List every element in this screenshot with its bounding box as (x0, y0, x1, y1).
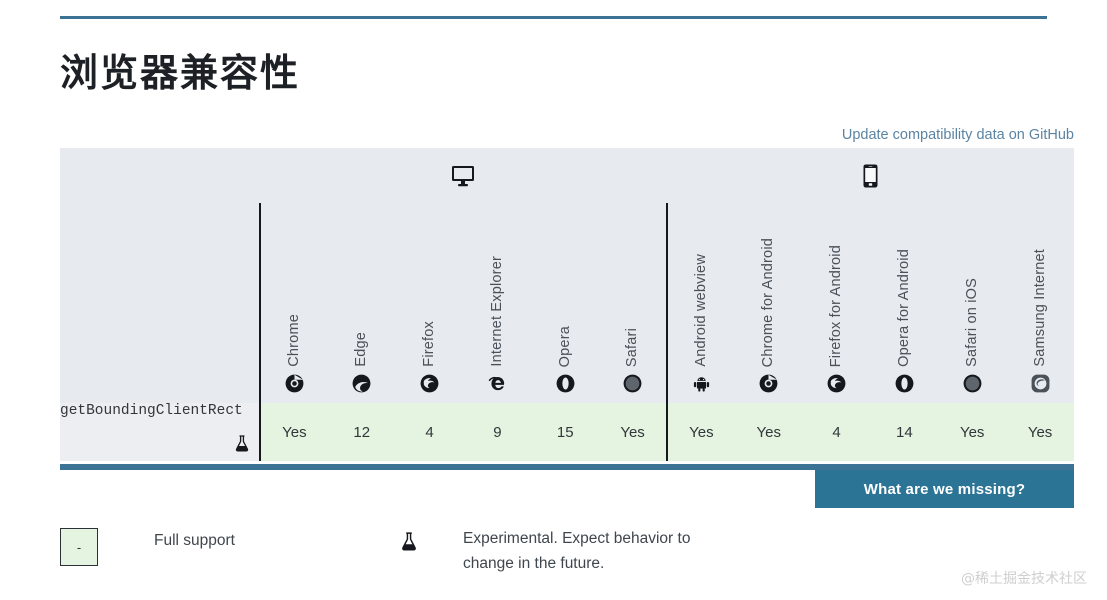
experimental-flask-icon (235, 435, 249, 457)
support-cell[interactable]: Yes (599, 403, 667, 461)
browser-label: Internet Explorer (490, 256, 505, 367)
safari-icon (623, 373, 643, 393)
browser-label: Safari on iOS (965, 278, 980, 367)
browser-header-internet-explorer[interactable]: Internet Explorer (463, 203, 531, 403)
browser-label: Opera (558, 326, 573, 367)
browser-label: Safari (625, 328, 640, 367)
support-cell[interactable]: Yes (938, 403, 1006, 461)
browser-label: Samsung Internet (1033, 249, 1048, 367)
internet-explorer-icon (487, 373, 507, 393)
browser-header-firefox[interactable]: Firefox (396, 203, 464, 403)
legend-item-full-support: - Full support (60, 528, 235, 566)
platform-header-mobile (667, 148, 1074, 203)
desktop-icon (451, 167, 475, 184)
table-row: getBoundingClientRect Yes 12 4 9 15 Ye (60, 403, 1074, 461)
browser-header-opera[interactable]: Opera (531, 203, 599, 403)
support-cell[interactable]: Yes (667, 403, 735, 461)
support-cell[interactable]: Yes (735, 403, 803, 461)
page-title: 浏览器兼容性 (60, 52, 300, 98)
full-support-swatch: - (60, 528, 98, 566)
feature-name-cell[interactable]: getBoundingClientRect (60, 403, 260, 461)
browser-header-row: Chrome Edge (60, 203, 1074, 403)
browser-header-safari[interactable]: Safari (599, 203, 667, 403)
browser-header-edge[interactable]: Edge (328, 203, 396, 403)
browser-header-android-webview[interactable]: Android webview (667, 203, 735, 403)
firefox-icon (827, 373, 847, 393)
legend-label-full-support: Full support (154, 528, 235, 553)
support-cell[interactable]: 15 (531, 403, 599, 461)
browser-label: Firefox (422, 321, 437, 367)
platform-header-desktop (260, 148, 667, 203)
browser-label: Firefox for Android (829, 245, 844, 367)
platform-header-spacer (60, 148, 260, 203)
support-cell[interactable]: Yes (1006, 403, 1074, 461)
firefox-icon (420, 373, 440, 393)
opera-icon (555, 373, 575, 393)
update-compatibility-data-link[interactable]: Update compatibility data on GitHub (842, 127, 1074, 143)
support-cell[interactable]: 14 (870, 403, 938, 461)
support-cell[interactable]: 12 (328, 403, 396, 461)
browser-label: Edge (354, 332, 369, 367)
browser-header-opera-for-android[interactable]: Opera for Android (870, 203, 938, 403)
legend-experimental-line2: change in the future. (463, 555, 604, 572)
top-divider (60, 16, 1047, 19)
support-cell[interactable]: 4 (803, 403, 871, 461)
watermark: @稀土掘金技术社区 (961, 568, 1087, 588)
support-cell[interactable]: Yes (260, 403, 328, 461)
support-cell[interactable]: 9 (463, 403, 531, 461)
legend-label-experimental: Experimental. Expect behavior to change … (463, 526, 723, 576)
legend-item-experimental: Experimental. Expect behavior to change … (397, 526, 723, 576)
support-cell[interactable]: 4 (396, 403, 464, 461)
feature-name: getBoundingClientRect (60, 403, 259, 420)
safari-icon (962, 373, 982, 393)
samsung-internet-icon (1030, 373, 1050, 393)
what-are-we-missing-button[interactable]: What are we missing? (815, 470, 1074, 508)
browser-label: Opera for Android (897, 249, 912, 367)
android-icon (691, 373, 711, 393)
browser-header-spacer (60, 203, 260, 403)
browser-label: Chrome (287, 314, 302, 367)
platform-header-row (60, 148, 1074, 203)
compatibility-table: Chrome Edge (60, 148, 1074, 461)
browser-header-chrome-for-android[interactable]: Chrome for Android (735, 203, 803, 403)
legend: - Full support Experimental. Expect beha… (60, 526, 1074, 596)
compatibility-table-wrapper: Chrome Edge (60, 148, 1074, 461)
browser-compatibility-page: 浏览器兼容性 Update compatibility data on GitH… (0, 0, 1107, 600)
mobile-icon (863, 167, 878, 184)
chrome-icon (759, 373, 779, 393)
browser-header-safari-on-ios[interactable]: Safari on iOS (938, 203, 1006, 403)
browser-header-chrome[interactable]: Chrome (260, 203, 328, 403)
legend-experimental-line1: Experimental. Expect behavior to (463, 530, 690, 547)
experimental-flask-icon (397, 526, 421, 551)
edge-icon (352, 373, 372, 393)
browser-header-firefox-for-android[interactable]: Firefox for Android (803, 203, 871, 403)
browser-header-samsung-internet[interactable]: Samsung Internet (1006, 203, 1074, 403)
opera-icon (894, 373, 914, 393)
browser-label: Chrome for Android (761, 238, 776, 367)
chrome-icon (284, 373, 304, 393)
browser-label: Android webview (694, 254, 709, 367)
